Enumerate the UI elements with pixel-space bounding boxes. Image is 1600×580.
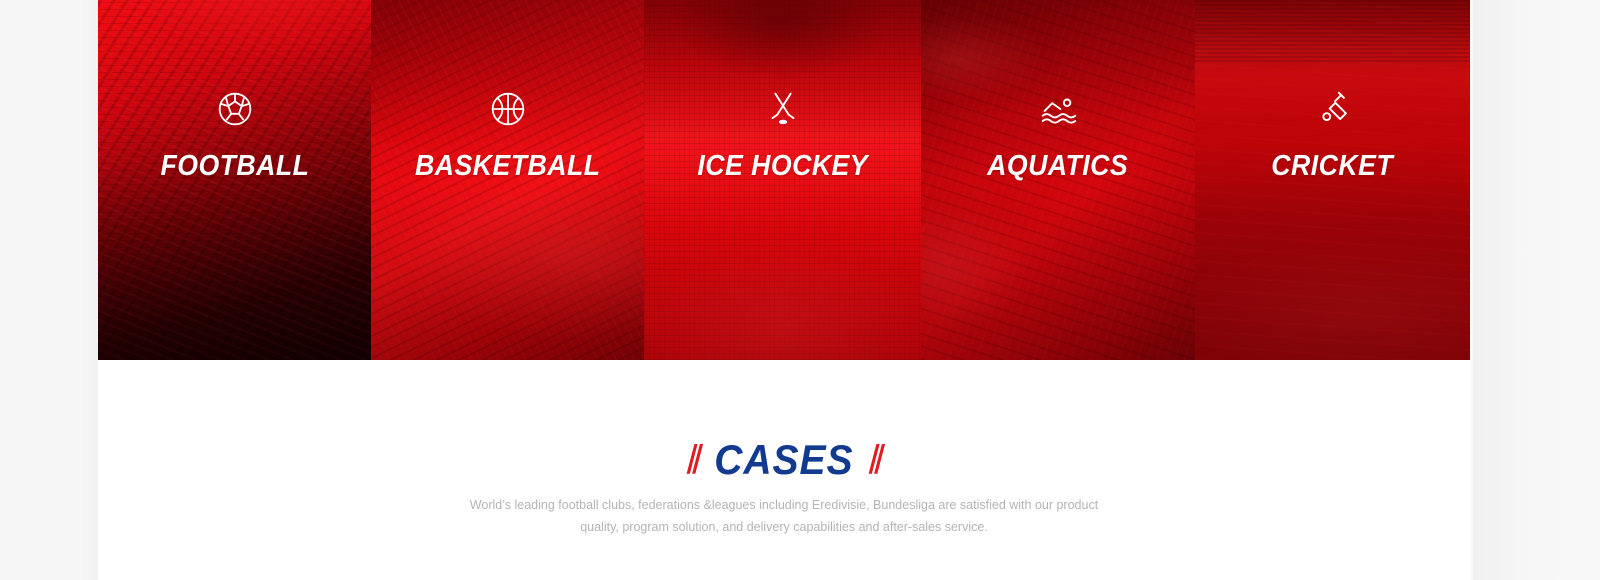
sport-tile-aquatics[interactable]: AQUATICS <box>921 0 1195 360</box>
sport-tile-label-cricket: CRICKET <box>1272 152 1394 181</box>
sport-tile-label-ice-hockey: ICE HOCKEY <box>697 152 868 181</box>
sport-tile-label-basketball: BASKETBALL <box>415 152 600 181</box>
slash-marks-right: // <box>869 440 880 480</box>
sport-tile-label-football: FOOTBALL <box>160 152 309 181</box>
cases-description: World’s leading football clubs, federati… <box>464 494 1104 538</box>
sport-tile-cricket[interactable]: CRICKET <box>1195 0 1470 360</box>
basketball-icon <box>485 86 531 132</box>
cases-section: // CASES // World’s leading football clu… <box>98 360 1470 580</box>
sport-tile-football[interactable]: FOOTBALL <box>98 0 371 360</box>
sport-tile-basketball[interactable]: BASKETBALL <box>371 0 644 360</box>
sport-tile-label-aquatics: AQUATICS <box>987 152 1128 181</box>
slash-marks-left: // <box>688 440 699 480</box>
hockey-sticks-puck-icon <box>760 86 806 132</box>
soccer-ball-icon <box>212 86 258 132</box>
cases-heading: // CASES // <box>98 437 1470 483</box>
swimmer-waves-icon <box>1035 86 1081 132</box>
sports-tiles-row: FOOTBALL BASKETBALL <box>98 0 1470 360</box>
cricket-bat-ball-icon <box>1310 86 1356 132</box>
sport-tile-ice-hockey[interactable]: ICE HOCKEY <box>644 0 921 360</box>
cases-title: CASES <box>709 439 859 481</box>
page-content: FOOTBALL BASKETBALL <box>98 0 1470 580</box>
